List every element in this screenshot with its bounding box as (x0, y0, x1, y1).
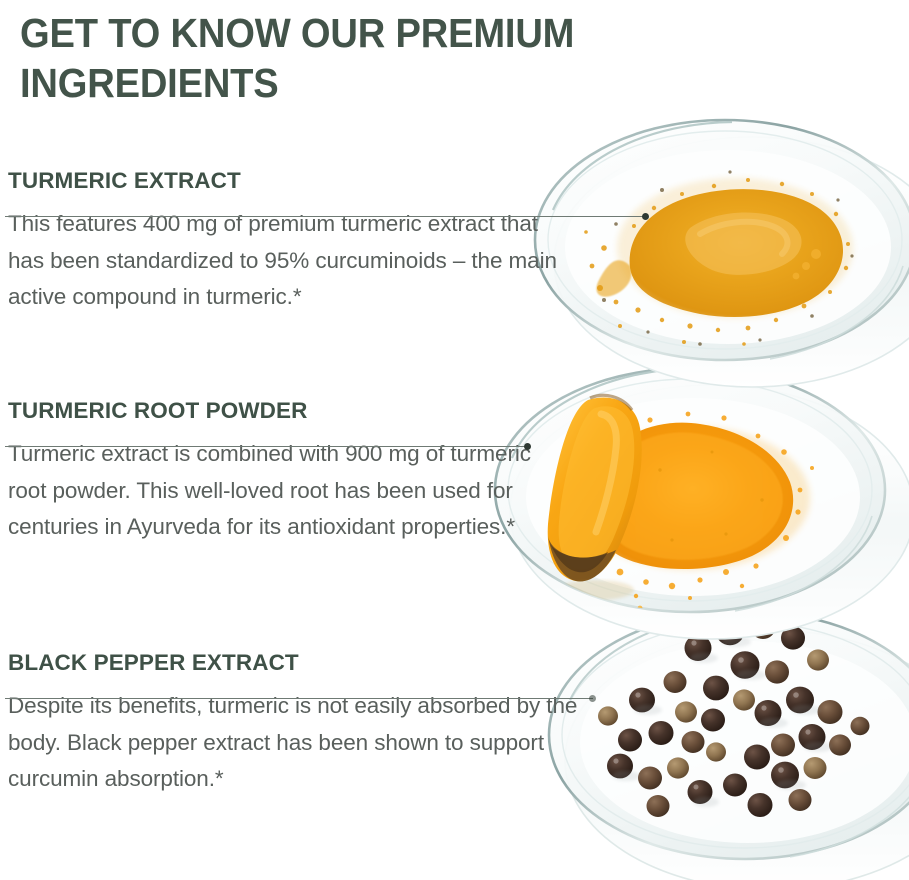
callout-leader-line (5, 694, 593, 704)
section-heading: TURMERIC EXTRACT (8, 168, 600, 194)
ingredient-section-turmeric-root-powder: TURMERIC ROOT POWDER Turmeric extract is… (0, 398, 600, 546)
section-heading: TURMERIC ROOT POWDER (8, 398, 600, 424)
leader-rule (5, 698, 593, 699)
leader-dot (642, 213, 649, 220)
ingredient-section-black-pepper-extract: BLACK PEPPER EXTRACT Despite its benefit… (0, 650, 600, 798)
leader-rule (5, 446, 528, 447)
leader-dot (524, 443, 531, 450)
section-body: This features 400 mg of premium turmeric… (8, 206, 568, 316)
leader-rule (5, 216, 646, 217)
section-body: Despite its benefits, turmeric is not ea… (8, 688, 588, 798)
section-heading: BLACK PEPPER EXTRACT (8, 650, 600, 676)
page-title: GET TO KNOW OUR PREMIUM INGREDIENTS (20, 8, 811, 108)
callout-leader-line (5, 212, 646, 222)
section-body: Turmeric extract is combined with 900 mg… (8, 436, 568, 546)
ingredient-section-turmeric-extract: TURMERIC EXTRACT This features 400 mg of… (0, 168, 600, 316)
callout-leader-line (5, 442, 528, 452)
leader-dot (589, 695, 596, 702)
